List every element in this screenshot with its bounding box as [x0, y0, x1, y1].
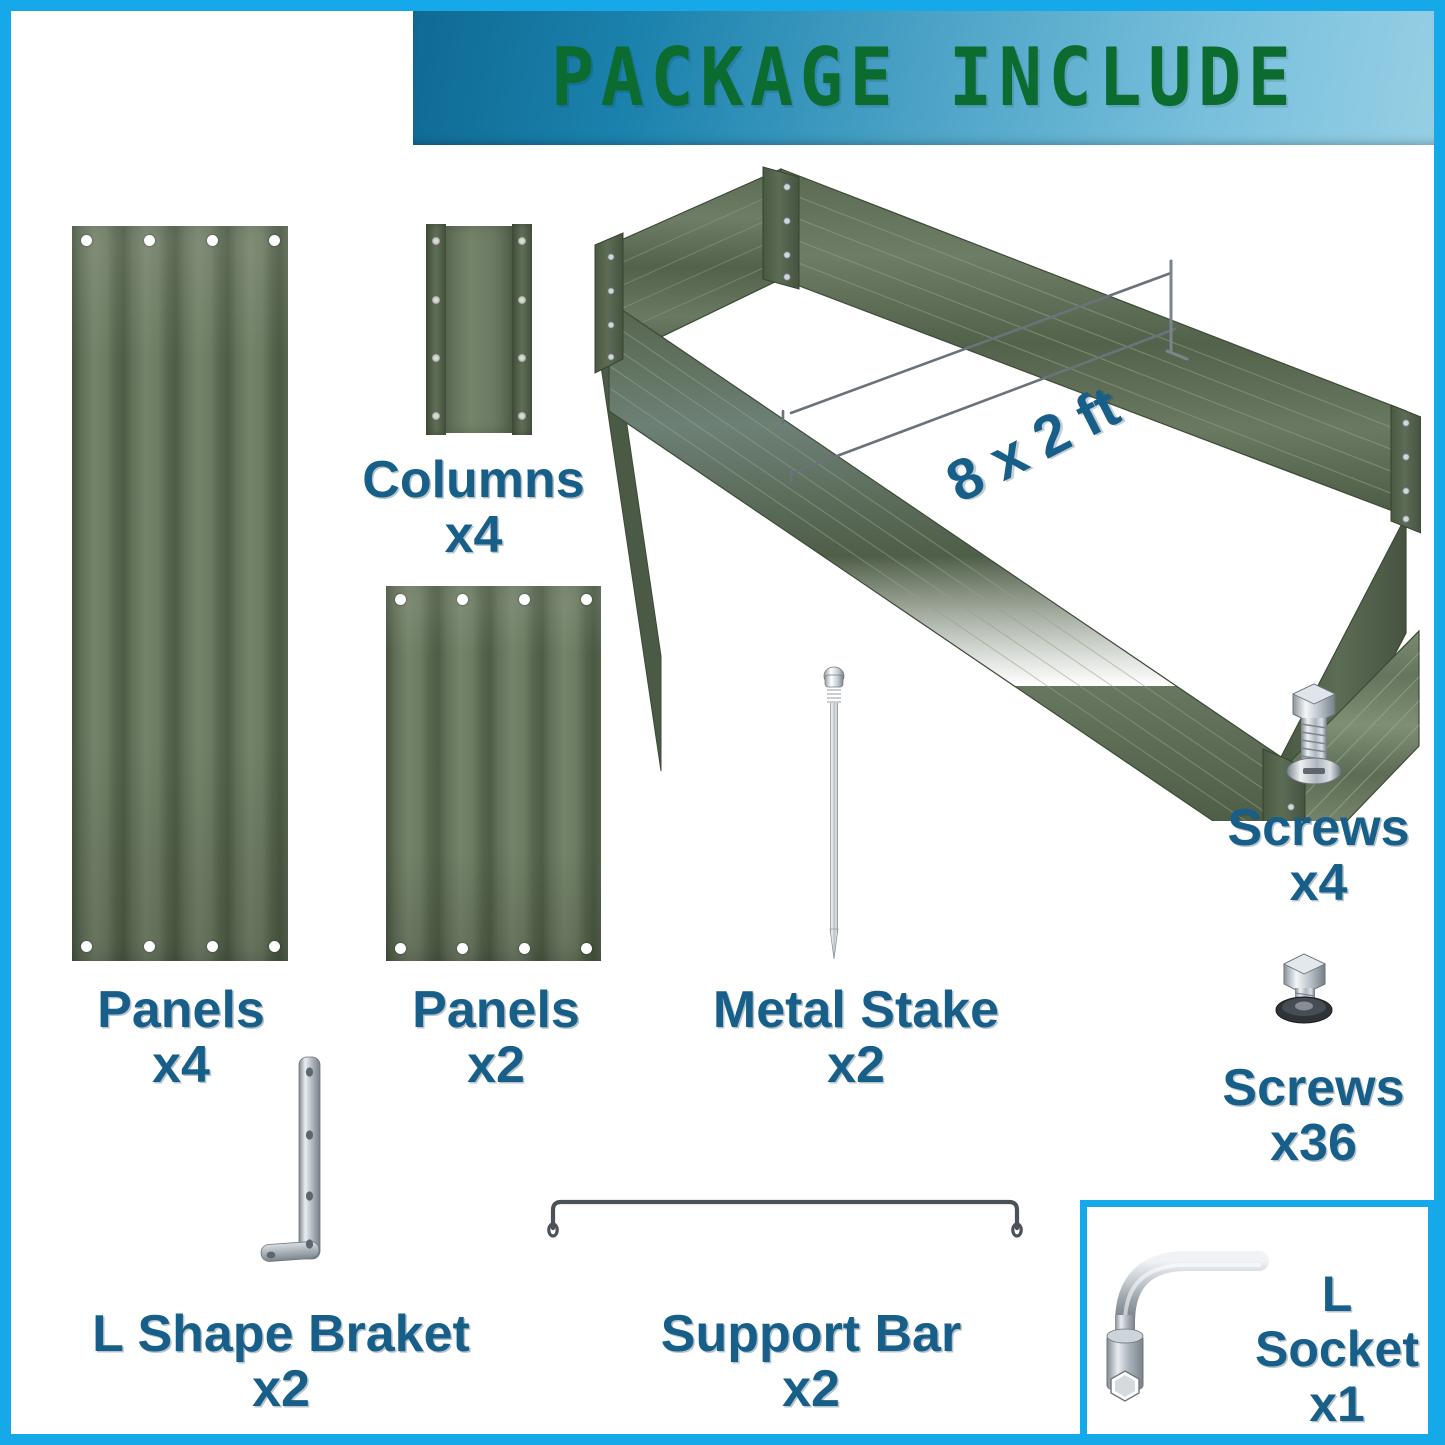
panel-hole [207, 235, 218, 246]
caption-label: L Shape Braket [92, 1305, 470, 1363]
column-part [426, 224, 532, 435]
panel-hole [81, 941, 92, 952]
column-hole [518, 354, 526, 362]
column-flange-right [512, 224, 532, 435]
panel-hole [269, 235, 280, 246]
panel-hole [81, 235, 92, 246]
column-flange-left [426, 224, 446, 435]
caption-qty: x1 [1309, 1376, 1365, 1432]
column-hole [432, 237, 440, 245]
column-hole [518, 412, 526, 420]
caption-label: Screws [1227, 799, 1409, 857]
caption-label: Support Bar [661, 1305, 961, 1363]
caption-label: Screws [1222, 1059, 1404, 1117]
caption-label: Panels [412, 981, 580, 1039]
caption-screws-small: Screws x4 [1186, 801, 1445, 911]
column-hole [518, 296, 526, 304]
panel-hole [144, 235, 155, 246]
column-hole [432, 354, 440, 362]
panel-hole [395, 943, 406, 954]
caption-l-socket: L Socket x1 [1237, 1267, 1437, 1432]
caption-columns: Columns x4 [336, 453, 611, 563]
panel-hole [457, 943, 468, 954]
caption-label: L Socket [1255, 1266, 1419, 1377]
screws-small-part [1269, 676, 1359, 796]
caption-metal-stake: Metal Stake x2 [661, 983, 1051, 1093]
panel-hole [269, 941, 280, 952]
caption-label: Columns [362, 451, 584, 509]
long-panel-part [72, 226, 288, 961]
panel-hole [581, 594, 592, 605]
caption-qty: x2 [46, 1362, 516, 1417]
caption-l-bracket: L Shape Braket x2 [46, 1307, 516, 1417]
column-hole [432, 296, 440, 304]
column-web [446, 226, 512, 433]
caption-label: Metal Stake [713, 981, 999, 1039]
package-include-banner: PACKAGE INCLUDE [413, 11, 1436, 145]
support-bar-part [541, 1196, 1031, 1246]
short-panel-part [386, 586, 601, 961]
panel-hole [457, 594, 468, 605]
caption-qty: x4 [336, 508, 611, 563]
caption-qty: x2 [661, 1038, 1051, 1093]
panel-hole [519, 594, 530, 605]
banner-title: PACKAGE INCLUDE [551, 31, 1297, 124]
caption-support-bar: Support Bar x2 [596, 1307, 1026, 1417]
caption-label: Panels [97, 981, 265, 1039]
metal-stake-part [811, 661, 857, 961]
caption-qty: x2 [346, 1038, 646, 1093]
panel-hole [207, 941, 218, 952]
panel-hole [519, 943, 530, 954]
l-socket-callout-box: L Socket x1 [1080, 1200, 1435, 1445]
caption-qty: x36 [1176, 1116, 1445, 1171]
column-hole [432, 412, 440, 420]
caption-qty: x4 [1186, 856, 1445, 911]
panel-hole [144, 941, 155, 952]
l-shape-bracket-part [251, 1051, 361, 1291]
caption-qty: x2 [596, 1362, 1026, 1417]
caption-panels-short: Panels x2 [346, 983, 646, 1093]
infographic-page: PACKAGE INCLUDE Panels x4 Columns x4 [0, 0, 1445, 1445]
column-hole [518, 237, 526, 245]
panel-hole [395, 594, 406, 605]
panel-hole [581, 943, 592, 954]
screws-large-part [1259, 946, 1349, 1041]
caption-screws-large: Screws x36 [1176, 1061, 1445, 1171]
